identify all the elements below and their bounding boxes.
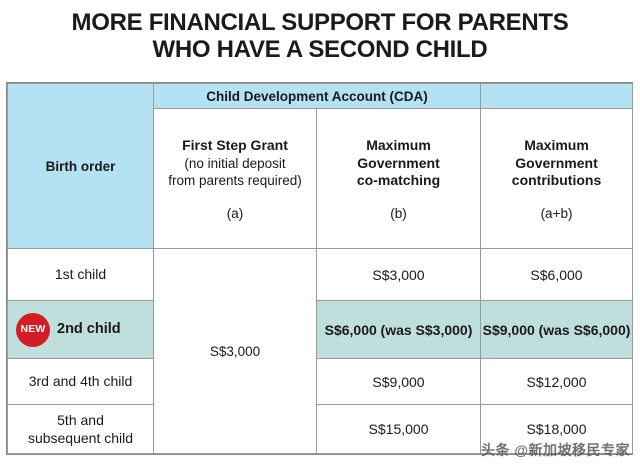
header-first-step-grant-note: (a) xyxy=(160,205,310,222)
header-co-matching-note: (b) xyxy=(323,205,474,222)
cda-benefits-table: Birth order Child Development Account (C… xyxy=(6,82,633,455)
row-label: 1st child xyxy=(55,266,106,282)
row-label-line-2: subsequent child xyxy=(28,430,133,446)
page-title-line-1: MORE FINANCIAL SUPPORT FOR PARENTS xyxy=(0,9,640,36)
co-matching-cell: S$3,000 xyxy=(317,249,481,301)
contributions-value: S$9,000 xyxy=(483,322,535,338)
header-contributions-line-3: contributions xyxy=(487,172,626,190)
row-label-cell: 1st child xyxy=(8,249,154,301)
co-matching-previous-value: (was S$3,000) xyxy=(381,322,473,338)
row-label-cell: 3rd and 4th child xyxy=(8,359,154,405)
header-first-step-grant-subtitle-2: from parents required) xyxy=(160,172,310,190)
co-matching-cell: S$6,000 (was S$3,000) xyxy=(317,301,481,359)
row-label: 3rd and 4th child xyxy=(29,373,133,389)
contributions-value: S$18,000 xyxy=(527,421,587,437)
first-step-grant-merged-value: S$3,000 xyxy=(154,249,317,454)
table-row: 1st child S$3,000 S$3,000 S$6,000 xyxy=(8,249,633,301)
row-label-cell: 5th and subsequent child xyxy=(8,405,154,454)
table-row-highlighted: NEW 2nd child S$6,000 (was S$3,000) S$9,… xyxy=(8,301,633,359)
contributions-value: S$6,000 xyxy=(530,267,582,283)
co-matching-cell: S$9,000 xyxy=(317,359,481,405)
header-cda-group: Child Development Account (CDA) xyxy=(154,84,481,109)
header-co-matching-line-2: Government xyxy=(323,155,474,173)
header-co-matching-line-3: co-matching xyxy=(323,172,474,190)
header-birth-order: Birth order xyxy=(8,84,154,249)
contributions-previous-value: (was S$6,000) xyxy=(539,322,631,338)
header-first-step-grant: First Step Grant (no initial deposit fro… xyxy=(154,109,317,249)
row-label-cell: NEW 2nd child xyxy=(8,301,154,359)
header-first-step-grant-title: First Step Grant xyxy=(160,137,310,155)
co-matching-value: S$6,000 xyxy=(325,322,377,338)
table-row: 3rd and 4th child S$9,000 S$12,000 xyxy=(8,359,633,405)
page-title-line-2: WHO HAVE A SECOND CHILD xyxy=(0,36,640,63)
page-title: MORE FINANCIAL SUPPORT FOR PARENTS WHO H… xyxy=(0,0,640,63)
header-contributions-line-1: Maximum xyxy=(487,137,626,155)
table-header-group-row: Birth order Child Development Account (C… xyxy=(8,84,633,109)
header-co-matching: Maximum Government co-matching (b) xyxy=(317,109,481,249)
contributions-value: S$12,000 xyxy=(527,374,587,390)
contributions-cell: S$6,000 xyxy=(481,249,633,301)
contributions-cell: S$9,000 (was S$6,000) xyxy=(481,301,633,359)
co-matching-value: S$15,000 xyxy=(369,421,429,437)
contributions-cell: S$12,000 xyxy=(481,359,633,405)
co-matching-value: S$3,000 xyxy=(372,267,424,283)
header-group-empty xyxy=(481,84,633,109)
header-contributions: Maximum Government contributions (a+b) xyxy=(481,109,633,249)
watermark: 头条 @新加坡移民专家 xyxy=(481,440,630,460)
header-contributions-note: (a+b) xyxy=(487,205,626,222)
new-badge: NEW xyxy=(16,313,50,347)
row-label: 2nd child xyxy=(57,321,121,338)
header-first-step-grant-subtitle: (no initial deposit xyxy=(160,155,310,173)
co-matching-cell: S$15,000 xyxy=(317,405,481,454)
co-matching-value: S$9,000 xyxy=(372,374,424,390)
row-label: 5th and xyxy=(57,412,104,428)
header-contributions-line-2: Government xyxy=(487,155,626,173)
header-co-matching-line-1: Maximum xyxy=(323,137,474,155)
